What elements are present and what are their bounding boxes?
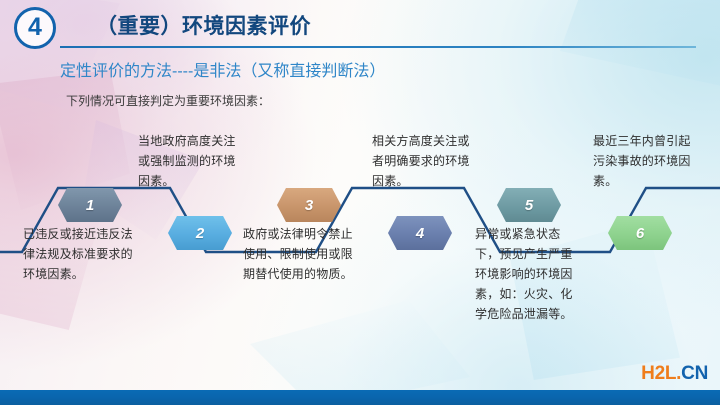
step-hexagon-6: 6 xyxy=(608,216,672,250)
step-number-5: 5 xyxy=(525,197,533,214)
step-hexagon-5: 5 xyxy=(497,188,561,222)
item-text-3: 政府或法律明令禁止使用、限制使用或限期替代使用的物质。 xyxy=(243,224,355,284)
item-text-1: 已违反或接近违反法律法规及标准要求的环境因素。 xyxy=(23,224,133,284)
watermark-primary: H2L. xyxy=(641,363,681,384)
step-number-6: 6 xyxy=(636,225,644,242)
step-hexagon-4: 4 xyxy=(388,216,452,250)
item-text-4: 相关方高度关注或者明确要求的环境因素。 xyxy=(372,131,480,191)
bottom-accent-bar xyxy=(0,390,720,405)
slide-canvas: 4 （重要）环境因素评价 定性评价的方法----是非法（又称直接判断法） 下列情… xyxy=(0,0,720,405)
step-number-1: 1 xyxy=(86,197,94,214)
watermark: H2L.CN xyxy=(641,363,708,385)
step-number-4: 4 xyxy=(416,225,424,242)
step-number-2: 2 xyxy=(196,225,204,242)
step-hexagon-3: 3 xyxy=(277,188,341,222)
item-text-6: 最近三年内曾引起污染事故的环境因素。 xyxy=(593,131,701,191)
step-hexagon-1: 1 xyxy=(58,188,122,222)
step-number-3: 3 xyxy=(305,197,313,214)
watermark-secondary: CN xyxy=(681,363,708,384)
item-text-2: 当地政府高度关注或强制监测的环境因素。 xyxy=(138,131,246,191)
item-text-5: 异常或紧急状态下，预见产生严重环境影响的环境因素，如：火灾、化学危险品泄漏等。 xyxy=(475,224,583,324)
step-hexagon-2: 2 xyxy=(168,216,232,250)
